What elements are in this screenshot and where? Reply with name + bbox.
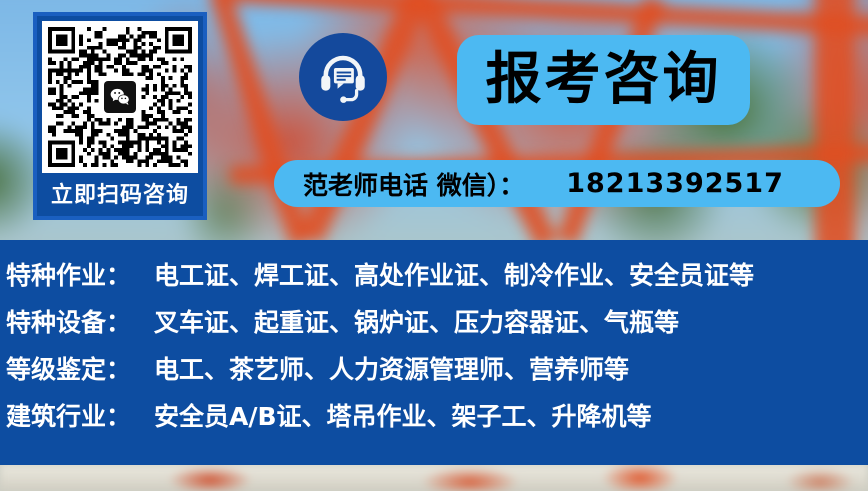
info-items: 安全员A/B证、塔吊作业、架子工、升降机等 (154, 397, 652, 433)
bottom-photo-strip (0, 464, 868, 491)
page-title: 报考咨询 (486, 52, 722, 108)
headset-chat-icon[interactable] (299, 33, 387, 121)
qr-card-caption: 立即扫码咨询 (42, 173, 198, 219)
info-category: 等级鉴定： (6, 350, 154, 386)
contact-phone-number[interactable]: 18213392517 (566, 168, 784, 199)
contact-phone-pill[interactable]: 范老师电话 微信）： 18213392517 (274, 160, 840, 207)
info-row: 特种作业： 电工证、焊工证、高处作业证、制冷作业、安全员证等 (6, 256, 868, 303)
qr-code-card[interactable]: 立即扫码咨询 (33, 12, 207, 220)
info-row: 特种设备： 叉车证、起重证、锅炉证、压力容器证、气瓶等 (6, 303, 868, 350)
info-items: 电工、茶艺师、人力资源管理师、营养师等 (154, 350, 629, 386)
contact-label: 范老师电话 微信）： (303, 166, 524, 202)
info-category: 建筑行业： (6, 397, 154, 433)
consultation-title-pill: 报考咨询 (457, 35, 750, 125)
certification-info-panel: 特种作业： 电工证、焊工证、高处作业证、制冷作业、安全员证等 特种设备： 叉车证… (0, 240, 868, 465)
info-category: 特种设备： (6, 303, 154, 339)
info-items: 叉车证、起重证、锅炉证、压力容器证、气瓶等 (154, 303, 679, 339)
qr-code-image (42, 21, 198, 173)
wechat-icon (104, 81, 136, 113)
info-category: 特种作业： (6, 256, 154, 292)
info-row: 等级鉴定： 电工、茶艺师、人力资源管理师、营养师等 (6, 350, 868, 397)
info-items: 电工证、焊工证、高处作业证、制冷作业、安全员证等 (154, 256, 754, 292)
info-row: 建筑行业： 安全员A/B证、塔吊作业、架子工、升降机等 (6, 397, 868, 444)
promo-poster: 立即扫码咨询 报考咨询 范老师电话 微信）： 18213392517 特种作业：… (0, 0, 868, 491)
